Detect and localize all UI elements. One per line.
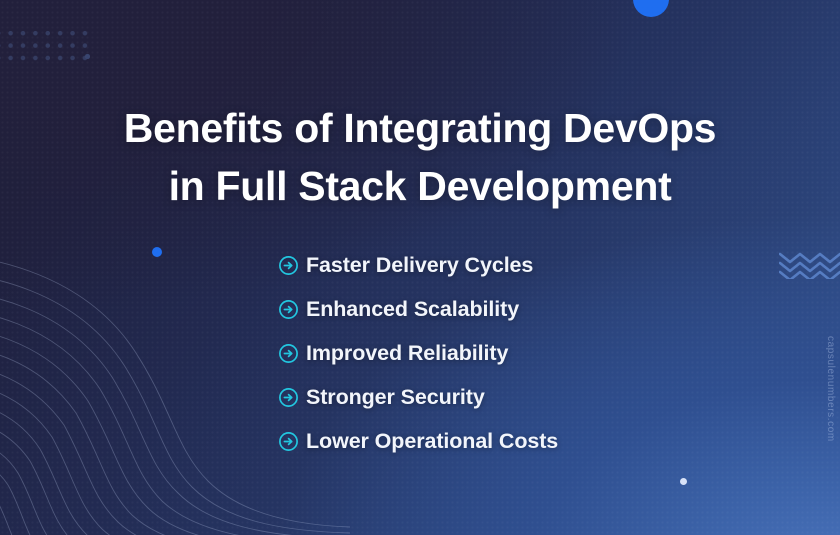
white-dot-decoration — [680, 478, 687, 485]
list-item: Stronger Security — [278, 375, 558, 419]
dot-grid-decoration — [0, 27, 92, 61]
blue-circle-decoration — [633, 0, 669, 17]
list-item-label: Stronger Security — [306, 385, 485, 410]
circle-arrow-right-icon — [278, 255, 299, 276]
presentation-slide: Benefits of Integrating DevOps in Full S… — [0, 0, 840, 535]
list-item: Lower Operational Costs — [278, 419, 558, 463]
list-item: Faster Delivery Cycles — [278, 243, 558, 287]
dot-grid-extra-dot — [83, 52, 97, 66]
circle-arrow-right-icon — [278, 387, 299, 408]
list-item: Improved Reliability — [278, 331, 558, 375]
blue-dot-decoration — [152, 247, 162, 257]
circle-arrow-right-icon — [278, 299, 299, 320]
list-item-label: Faster Delivery Cycles — [306, 253, 533, 278]
page-title: Benefits of Integrating DevOps in Full S… — [0, 99, 840, 215]
circle-arrow-right-icon — [278, 431, 299, 452]
benefits-list: Faster Delivery Cycles Enhanced Scalabil… — [278, 243, 558, 463]
list-item-label: Enhanced Scalability — [306, 297, 519, 322]
zigzag-wave-decoration — [779, 249, 840, 279]
list-item-label: Improved Reliability — [306, 341, 508, 366]
list-item-label: Lower Operational Costs — [306, 429, 558, 454]
list-item: Enhanced Scalability — [278, 287, 558, 331]
circle-arrow-right-icon — [278, 343, 299, 364]
watermark-text: capsulenumbers.com — [825, 336, 836, 442]
